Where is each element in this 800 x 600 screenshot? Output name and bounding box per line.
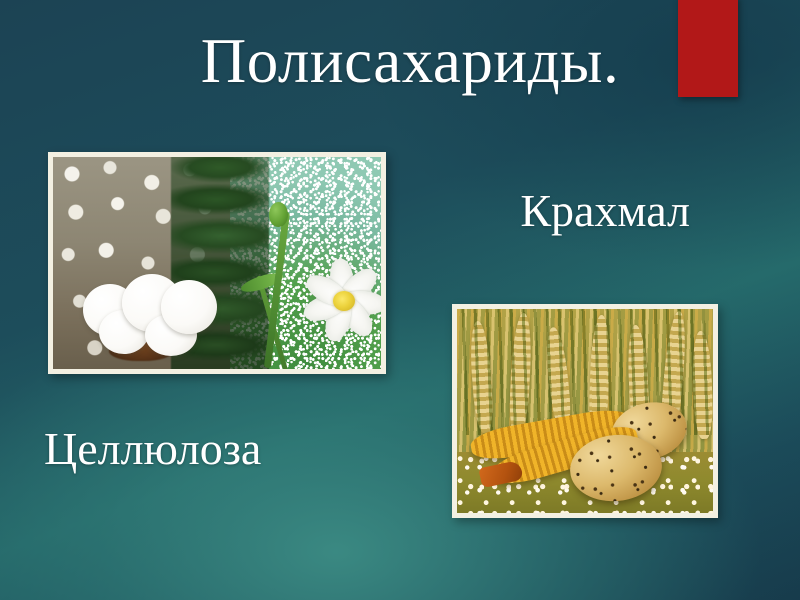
cotton-boll <box>161 280 217 334</box>
label-starch: Крахмал <box>520 186 690 237</box>
label-cellulose: Целлюлоза <box>44 424 261 475</box>
flower-bud <box>269 202 288 227</box>
presentation-slide: Полисахариды. Крахмал Целлюлоза <box>0 0 800 600</box>
corn-potato-wheat-photo <box>452 304 718 518</box>
cotton-flax-photo-canvas <box>53 157 381 369</box>
page-title: Полисахариды. <box>0 26 800 97</box>
cotton-flax-photo <box>48 152 386 374</box>
white-flower <box>296 255 381 347</box>
corn-potato-wheat-photo-canvas <box>457 309 713 513</box>
flower-center <box>333 291 355 311</box>
